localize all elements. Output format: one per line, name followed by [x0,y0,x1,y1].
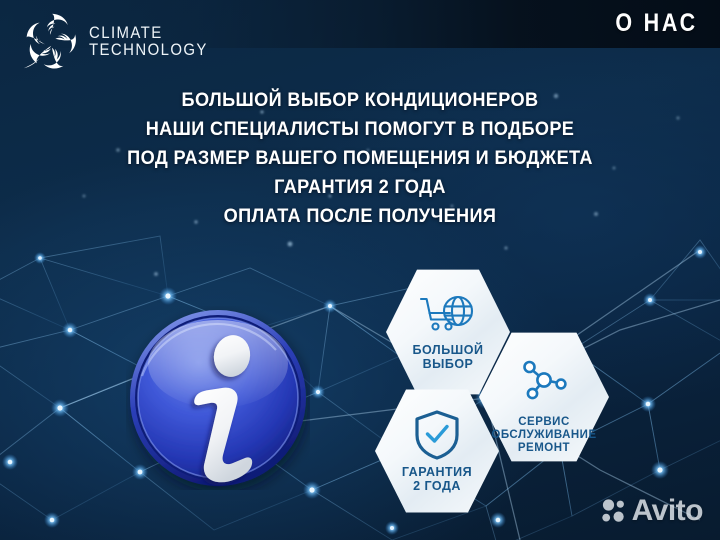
network-background-pattern [0,0,720,540]
feature-label-line1: БОЛЬШОЙ [413,343,484,357]
feature-label-line2: ОБСЛУЖИВАНИЕ [491,429,596,442]
brand-logo-text: CLIMATE TECHNOLOGY [89,24,208,59]
feature-label-service: СЕРВИС ОБСЛУЖИВАНИЕ РЕМОНТ [491,416,596,455]
feature-hexagon-warranty[interactable]: ГАРАНТИЯ 2 ГОДА [375,387,499,515]
feature-label-line3: РЕМОНТ [491,442,596,455]
avito-watermark: Avito [600,494,703,528]
section-title-about: О НАС [615,9,698,38]
fan-swirl-logo-icon [22,10,80,72]
avito-dots-icon [600,498,627,525]
brand-name-line2: TECHNOLOGY [89,41,208,58]
feature-label-line2: 2 ГОДА [402,479,472,493]
feature-label-choice: БОЛЬШОЙ ВЫБОР [413,343,484,372]
shield-check-icon [413,409,461,461]
feature-label-warranty: ГАРАНТИЯ 2 ГОДА [402,465,472,494]
shopping-cart-globe-icon [418,293,478,339]
feature-label-line2: ВЫБОР [413,357,484,371]
info-badge[interactable] [126,306,310,490]
avito-wordmark: Avito [632,494,703,528]
feature-label-line1: ГАРАНТИЯ [402,465,472,479]
feature-label-line1: СЕРВИС [491,416,596,429]
poster-canvas: CLIMATE TECHNOLOGY О НАС БОЛЬШОЙ ВЫБОР К… [0,0,720,540]
brand-name-line1: CLIMATE [89,24,208,41]
network-nodes-icon [517,358,571,402]
brand-logo[interactable]: CLIMATE TECHNOLOGY [22,10,224,72]
